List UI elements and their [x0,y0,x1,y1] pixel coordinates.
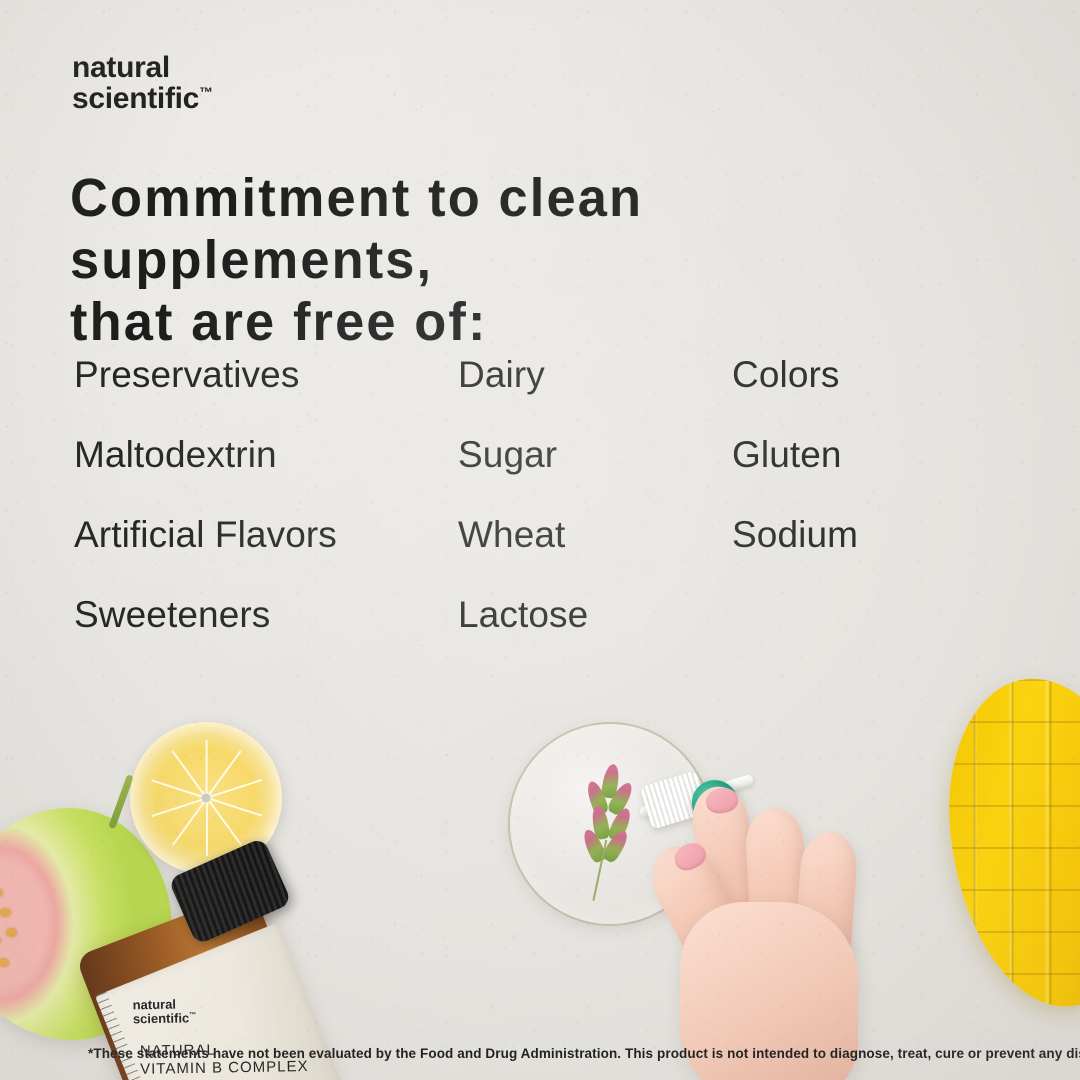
plant-sprig-image [577,764,638,898]
lemon-center [202,794,211,803]
list-item: Maltodextrin [74,432,337,512]
list-item: Preservatives [74,352,337,432]
brand-logo-line1: natural [72,52,213,83]
mango-image [935,669,1080,1017]
list-item: Dairy [458,352,588,432]
list-item: Wheat [458,512,588,592]
list-item: Sodium [732,512,858,592]
page-title: Commitment to clean supplements, that ar… [70,167,1001,353]
label-brand: natural scientific™ [133,997,197,1025]
hand-image [660,780,930,1080]
guava-seeds [0,886,38,976]
fda-disclaimer: *These statements have not been evaluate… [88,1046,1038,1061]
brand-logo: natural scientific™ [72,52,213,114]
free-of-column-3: Colors Gluten Sodium [732,352,858,592]
list-item: Colors [732,352,858,432]
brand-logo-line2-wrap: scientific™ [72,83,213,114]
free-of-column-2: Dairy Sugar Wheat Lactose [458,352,588,672]
marketing-graphic: natural scientific™ Commitment to clean … [0,0,1080,1080]
free-of-column-1: Preservatives Maltodextrin Artificial Fl… [74,352,337,672]
label-brand-line2: scientific [133,1010,190,1026]
label-title-line2: VITAMIN B COMPLEX [140,1058,309,1078]
trademark-symbol: ™ [199,84,213,100]
mango-cube-grid [935,669,1080,1017]
list-item: Sugar [458,432,588,512]
list-item: Artificial Flavors [74,512,337,592]
label-trademark: ™ [189,1012,196,1019]
product-photo-band: natural scientific™ NATURAL VITAMIN B CO… [0,660,1080,1080]
headline-line-2: that are free of: [70,291,1001,353]
list-item: Gluten [732,432,858,512]
brand-logo-line2: scientific [72,82,199,115]
headline-line-1: Commitment to clean supplements, [70,167,1001,291]
